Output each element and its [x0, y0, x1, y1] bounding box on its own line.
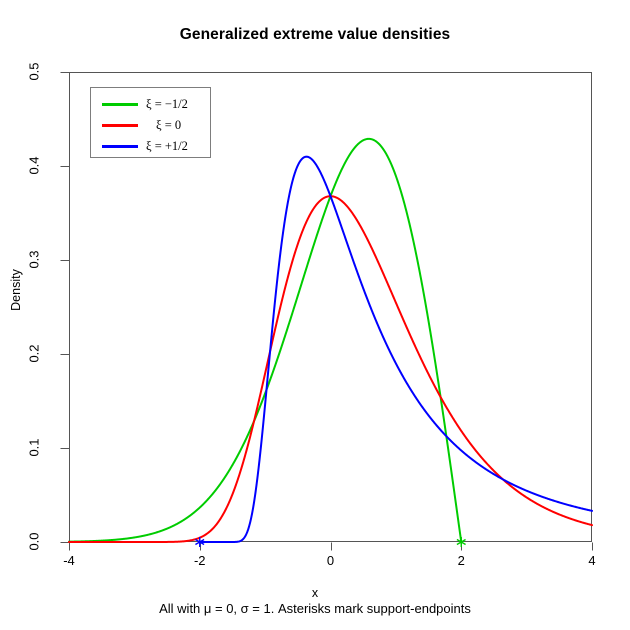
chart-root: Generalized extreme value densities Dens…: [0, 0, 630, 630]
series-lines: [69, 139, 592, 542]
chart-subtitle: All with μ = 0, σ = 1. Asterisks mark su…: [0, 601, 630, 616]
y-tick-label: 0.3: [27, 240, 42, 280]
legend-label: ξ = −1/2: [146, 97, 188, 112]
y-axis-label: Density: [9, 230, 23, 350]
legend-label: ξ = 0: [156, 118, 181, 133]
series-line-1: [69, 139, 461, 542]
legend-item-1[interactable]: ξ = −1/2: [91, 94, 212, 115]
x-tick-label: 2: [441, 553, 481, 568]
y-tick-label: 0.5: [27, 52, 42, 92]
legend-color-swatch: [102, 124, 138, 127]
series-line-3: [200, 157, 592, 542]
x-tick-label: 0: [311, 553, 351, 568]
x-axis-ticks: [70, 543, 593, 551]
legend-item-2[interactable]: ξ = 0: [91, 115, 212, 136]
x-tick-label: 4: [572, 553, 612, 568]
y-tick-label: 0.0: [27, 522, 42, 562]
y-axis-ticks: [61, 73, 70, 543]
y-tick-label: 0.1: [27, 428, 42, 468]
y-tick-label: 0.4: [27, 146, 42, 186]
legend: ξ = −1/2ξ = 0ξ = +1/2: [90, 87, 211, 158]
series-line-2: [69, 196, 592, 542]
x-tick-label: -2: [180, 553, 220, 568]
legend-color-swatch: [102, 103, 138, 106]
y-tick-label: 0.2: [27, 334, 42, 374]
legend-item-3[interactable]: ξ = +1/2: [91, 136, 212, 157]
x-tick-label: -4: [49, 553, 89, 568]
x-axis-label: x: [0, 586, 630, 600]
legend-label: ξ = +1/2: [146, 139, 188, 154]
legend-color-swatch: [102, 145, 138, 148]
